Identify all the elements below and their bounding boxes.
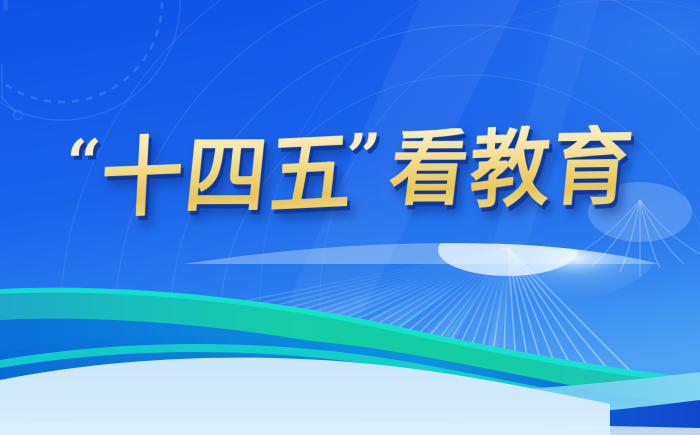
banner-canvas: “ 十 四 五 ” 看 教 育: [0, 0, 700, 435]
layered-ribbon-waves: [0, 0, 700, 435]
